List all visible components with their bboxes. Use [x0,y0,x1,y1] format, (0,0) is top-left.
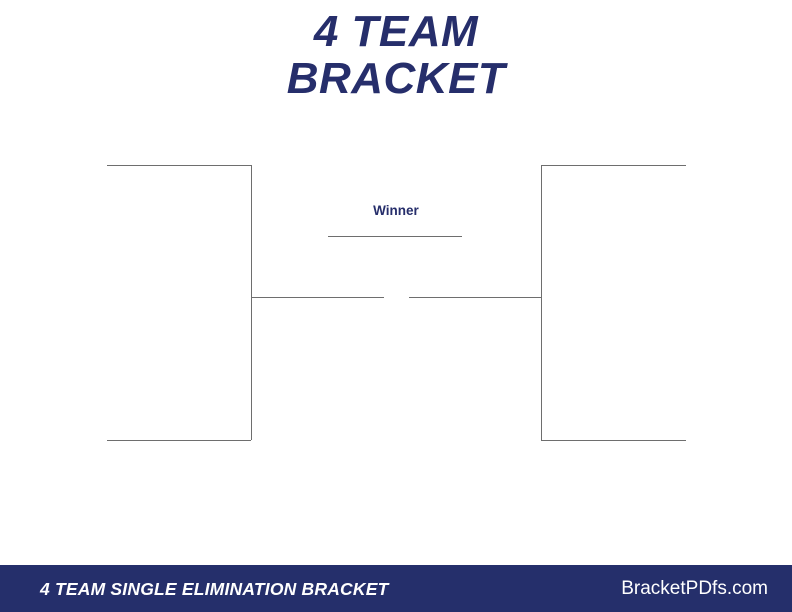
bracket-diagram: Winner [0,0,792,560]
winner-label: Winner [316,203,476,219]
bracket-slot-left-bottom[interactable] [107,440,251,441]
footer-site-link[interactable]: BracketPDfs.com [621,578,768,600]
bracket-slot-right-semifinal[interactable] [409,297,541,298]
footer-title: 4 TEAM SINGLE ELIMINATION BRACKET [40,579,389,599]
bracket-slot-champion[interactable] [328,236,462,237]
bracket-slot-left-semifinal[interactable] [251,297,384,298]
bracket-slot-right-top[interactable] [541,165,686,166]
footer-bar: 4 TEAM SINGLE ELIMINATION BRACKET Bracke… [0,565,792,612]
bracket-slot-left-top[interactable] [107,165,251,166]
bracket-slot-right-bottom[interactable] [541,440,686,441]
bracket-right-vertical-connector [541,165,542,440]
bracket-left-vertical-connector [251,165,252,440]
